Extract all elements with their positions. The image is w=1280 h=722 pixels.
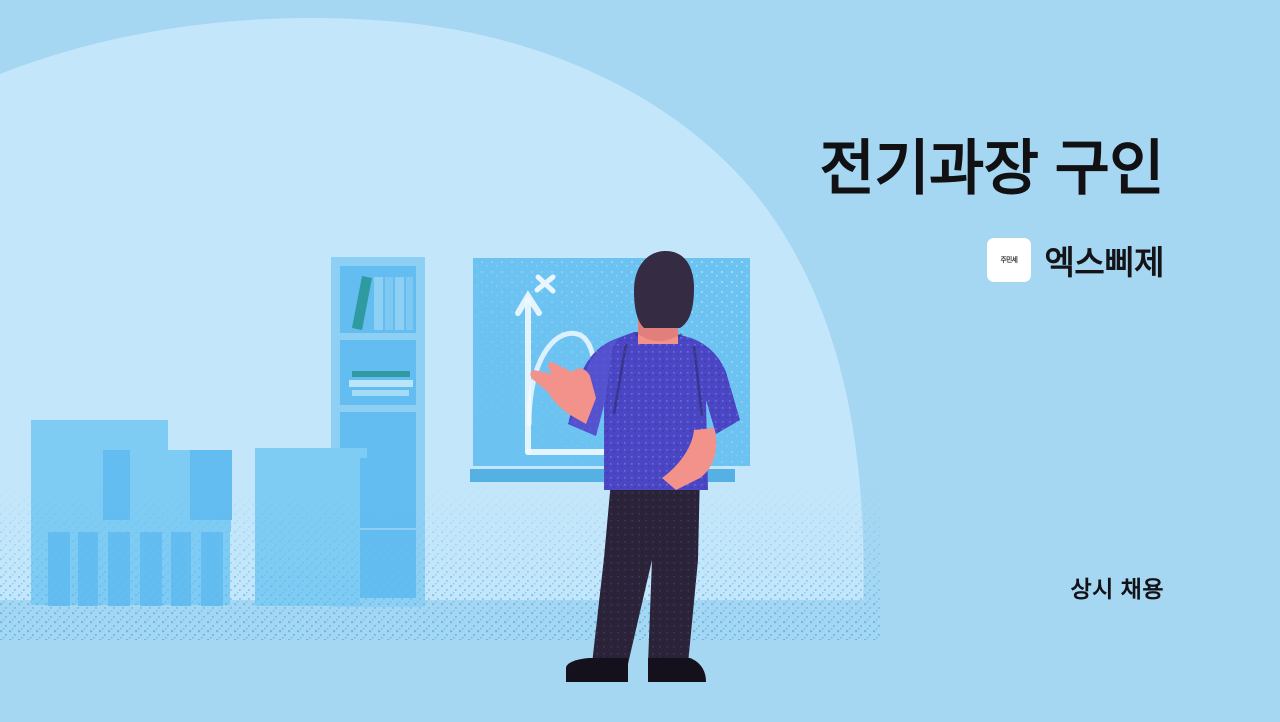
hiring-type-label: 상시 채용 bbox=[1070, 570, 1164, 604]
company-name: 엑스삐제 bbox=[1045, 236, 1164, 284]
company-logo-icon: 주민세 bbox=[987, 238, 1031, 282]
floor-speckle-texture bbox=[0, 480, 880, 640]
company-logo-text: 주민세 bbox=[1000, 257, 1017, 264]
job-posting-banner: 전기과장 구인 주민세 엑스삐제 상시 채용 bbox=[0, 0, 1280, 722]
company-row: 주민세 엑스삐제 bbox=[987, 236, 1164, 284]
page-title: 전기과장 구인 bbox=[820, 134, 1164, 205]
office-illustration bbox=[0, 0, 880, 722]
